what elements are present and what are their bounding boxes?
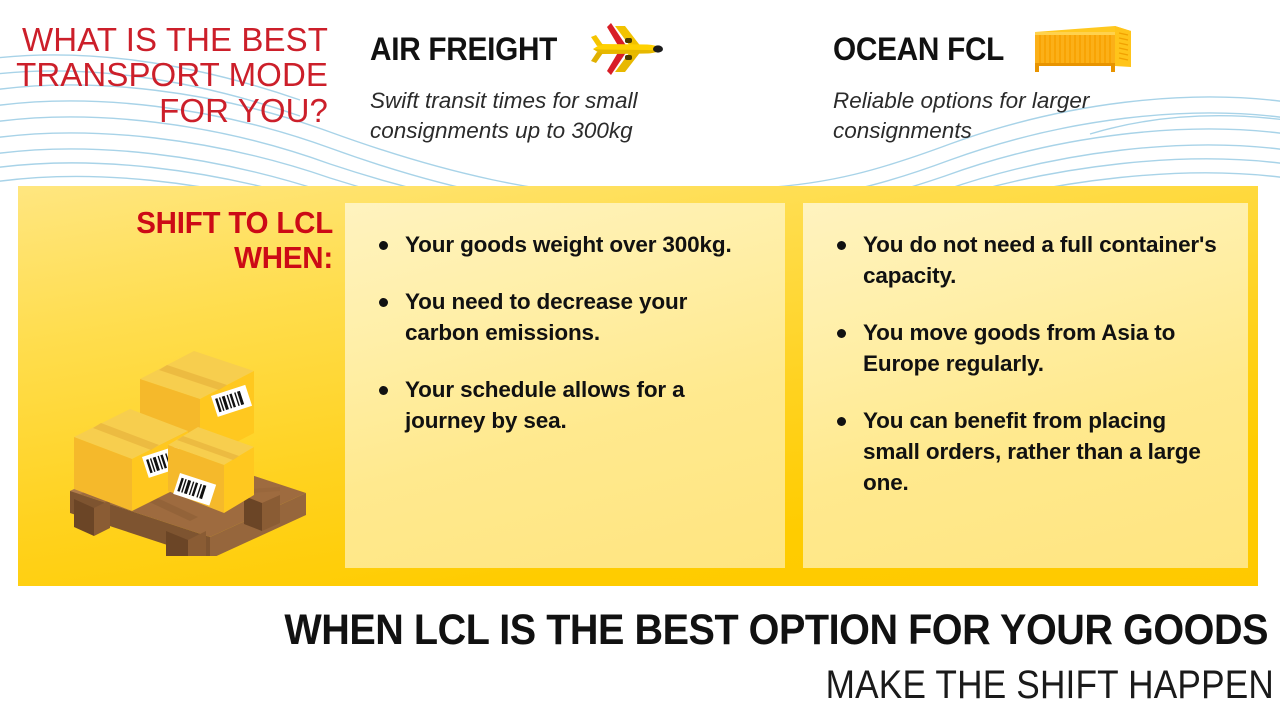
lcl-criteria-card-1: Your goods weight over 300kg. You need t… [345, 203, 785, 568]
page-title: WHAT IS THE BEST TRANSPORT MODE FOR YOU? [16, 22, 328, 128]
shipping-container-icon [1031, 23, 1135, 75]
bullet-list-1: Your goods weight over 300kg. You need t… [369, 229, 765, 436]
list-item: Your goods weight over 300kg. [369, 229, 765, 260]
list-item: You can benefit from placing small order… [827, 405, 1228, 498]
mode-ocean-fcl-label: OCEAN FCL [833, 31, 1004, 68]
bullet-list-2: You do not need a full container's capac… [827, 229, 1228, 498]
list-item: You move goods from Asia to Europe regul… [827, 317, 1228, 379]
yellow-band: SHIFT TO LCL WHEN: [18, 186, 1258, 586]
list-item: Your schedule allows for a journey by se… [369, 374, 765, 436]
list-item: You do not need a full container's capac… [827, 229, 1228, 291]
mode-air-freight-description: Swift transit times for small consignmen… [370, 86, 710, 147]
mode-air-freight: AIR FREIGHT [370, 0, 800, 147]
boxes-on-pallet-illustration [48, 341, 328, 556]
footer-headline: WHEN LCL IS THE BEST OPTION FOR YOUR GOO… [101, 606, 1268, 655]
footer-tagline: MAKE THE SHIFT HAPPEN [153, 663, 1274, 708]
lcl-criteria-card-2: You do not need a full container's capac… [803, 203, 1248, 568]
airplane-icon [585, 18, 667, 80]
mode-air-freight-header: AIR FREIGHT [370, 0, 800, 80]
shift-to-lcl-heading: SHIFT TO LCL WHEN: [48, 206, 333, 275]
band-left-column: SHIFT TO LCL WHEN: [18, 186, 345, 586]
header-region: WHAT IS THE BEST TRANSPORT MODE FOR YOU?… [0, 0, 1280, 186]
mode-ocean-fcl: OCEAN FCL [833, 0, 1263, 147]
mode-air-freight-label: AIR FREIGHT [370, 31, 557, 68]
list-item: You need to decrease your carbon emissio… [369, 286, 765, 348]
mode-ocean-fcl-description: Reliable options for larger consignments [833, 86, 1173, 147]
infographic-canvas: WHAT IS THE BEST TRANSPORT MODE FOR YOU?… [0, 0, 1280, 720]
mode-ocean-fcl-header: OCEAN FCL [833, 0, 1263, 80]
